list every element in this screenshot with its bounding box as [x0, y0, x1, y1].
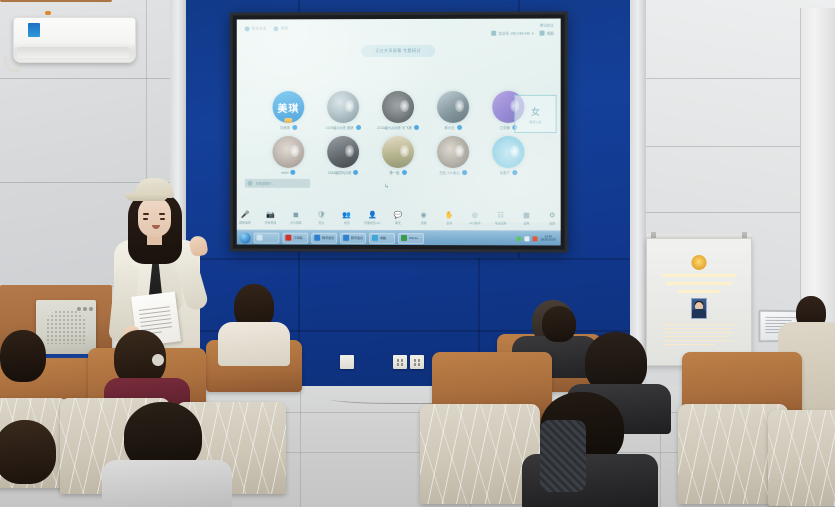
mic-on-icon [414, 125, 419, 130]
taskbar-app-label: Windo... [409, 236, 420, 240]
participant-tile[interactable]: 白石 1 6 余心 [433, 136, 473, 175]
speaker-controls[interactable] [77, 307, 93, 311]
toolbar-label: 安全 [313, 221, 330, 225]
settings-icon: ⚙ [544, 211, 561, 220]
shield-icon [372, 235, 378, 241]
person-head [0, 420, 56, 484]
toolbar-label: 聊天 [390, 221, 407, 225]
participant-name: 林小云 [444, 125, 454, 130]
projected-image: 会议安全 网络 腾讯会议 会议号: 253-246-046 [237, 19, 561, 246]
share-screen-icon: ◼ [288, 211, 305, 220]
layout-switcher[interactable]: 视图 [540, 31, 554, 36]
panel-seam [178, 258, 638, 260]
national-emblem-icon [692, 255, 707, 270]
avatar [327, 91, 359, 123]
folder-icon [401, 235, 407, 241]
toolbar-members[interactable]: 👥 成员 [339, 211, 356, 225]
toolbar-label: 共享屏幕 [288, 221, 305, 225]
network-icon[interactable] [517, 236, 522, 241]
projection-screen[interactable]: 会议安全 网络 腾讯会议 会议号: 253-246-046 [230, 11, 568, 252]
members-icon: 👥 [339, 211, 356, 220]
toolbar-camera[interactable]: 📷 开启视频 [262, 211, 278, 225]
network-label: 网络 [281, 26, 289, 31]
avatar [492, 136, 524, 168]
record-icon: ◉ [415, 211, 432, 220]
meeting-security-chip[interactable]: 会议安全 [245, 26, 267, 31]
participant-tile[interactable]: 美琪 刘美琪 [268, 91, 308, 130]
reaction-icon: ✋ [441, 211, 458, 220]
recording-chip[interactable]: 本地录制中 ... [245, 179, 311, 188]
taskbar-app-label: 腾讯会议 [351, 236, 363, 240]
person-head [542, 306, 576, 342]
windows-taskbar: 几何画... 腾讯会议 腾讯会议 电脑 [237, 230, 561, 246]
wall-socket [410, 355, 424, 369]
participant-tile[interactable]: 2143级九2(4)班 马飞扬 [378, 91, 418, 130]
camera-icon: 📷 [262, 211, 278, 220]
participant-name: 2143级九2(4)班 马飞扬 [377, 125, 412, 130]
audience-member [0, 330, 60, 400]
meeting-topbar: 会议安全 网络 腾讯会议 会议号: 253-246-046 [237, 19, 561, 42]
avatar [382, 91, 414, 123]
avatar: 美琪 [272, 91, 304, 123]
person-shoulders [218, 322, 290, 366]
participant-name: 白石 1 6 余心 [439, 170, 459, 175]
participant-name: mimi [281, 170, 288, 174]
toolbar-more[interactable]: ▦ 应用 [518, 211, 535, 225]
toolbar-reaction[interactable]: ✋ 表情 [441, 211, 458, 225]
mic-on-icon [356, 125, 361, 130]
record-icon [248, 181, 253, 186]
smart-icon: ◎ [467, 211, 484, 220]
mouse-cursor-icon: ↳ [384, 183, 389, 190]
participant-name: 刘美琪 [280, 125, 290, 130]
ac-badge [28, 23, 40, 37]
toolbar-label: 管理成员(11) [364, 221, 381, 225]
network-chip[interactable]: 网络 [274, 26, 288, 31]
presenter-face [138, 197, 171, 237]
taskbar-app[interactable]: 腾讯会议 [340, 232, 366, 243]
audience-member [108, 402, 228, 507]
mic-on-icon [292, 125, 297, 130]
mic-on-icon [353, 170, 358, 175]
toolbar-share[interactable]: ◼ 共享屏幕 [288, 211, 305, 225]
layout-label: 视图 [547, 31, 554, 36]
taskbar-app[interactable]: Windo... [398, 233, 424, 244]
taskbar-app[interactable]: 腾讯会议 [311, 232, 337, 243]
chat-icon: 💬 [390, 211, 407, 220]
toolbar-label: 设置 [544, 221, 561, 225]
toolbar-record[interactable]: ◉ 录制 [415, 211, 432, 225]
ac-vent [17, 47, 129, 58]
meeting-id-label: 会议号: 253-246-046 [498, 31, 529, 36]
ceiling-sensor [45, 11, 51, 15]
layout-grid-icon [540, 31, 545, 36]
mic-on-icon [290, 170, 295, 175]
meeting-topic-pill: 正在共享屏幕 专题研讨 [361, 45, 434, 57]
meeting-topbar-right: 腾讯会议 会议号: 253-246-046 ▾ 视图 [491, 23, 553, 36]
meeting-toolbar: 🎤 解除静音 📷 开启视频 ◼ 共享屏幕 🛡 安全 [237, 206, 561, 231]
id-icon [491, 31, 496, 36]
avatar [437, 91, 469, 123]
participant-name: 江亚楠 [500, 125, 510, 130]
meeting-icon [314, 235, 320, 241]
participant-name: 2164级四5(2)班 [328, 170, 352, 175]
participant-tile[interactable]: 2164级四5(2)班 [323, 136, 363, 175]
participant-tile[interactable]: 第一组 [378, 136, 418, 175]
shield-icon: 🛡 [313, 211, 330, 220]
clock-date: 2025/11/25 [541, 238, 556, 241]
wall-seam [0, 78, 186, 79]
person-shoulders [102, 460, 232, 507]
poster-title-line-3 [678, 290, 720, 293]
presenter-hand [188, 235, 208, 258]
toolbar-label: AI小助手 [467, 221, 484, 225]
tile-seam [300, 386, 301, 507]
microphone-icon: 🎤 [237, 211, 253, 220]
air-conditioner [13, 17, 136, 63]
participant-tile[interactable]: 毛栗子 [488, 136, 528, 175]
avatar [382, 136, 414, 168]
toolbar-label: 成员 [339, 221, 356, 225]
system-tray: 14:39 2025/11/25 [517, 235, 558, 242]
avatar [272, 136, 304, 168]
conference-room-photo: 会议安全 网络 腾讯会议 会议号: 253-246-046 [0, 0, 835, 507]
participant-tile[interactable]: 2139级2(4)班 谢妍 [323, 91, 363, 130]
backpack [540, 420, 586, 492]
chair-seatback[interactable] [768, 410, 835, 506]
participant-name: 第一组 [389, 170, 399, 175]
cloud-icon [257, 235, 263, 241]
participant-tile[interactable]: 林小云 [433, 91, 473, 130]
mic-on-icon [457, 125, 462, 130]
toolbar-manage[interactable]: 👤 管理成员(11) [364, 211, 381, 225]
participant-grid: 美琪 刘美琪 2139级2(4)班 谢妍 2143级九2(4)班 马飞扬 [237, 91, 561, 175]
taskbar-app-label: 腾讯会议 [322, 236, 334, 240]
person-head [0, 330, 46, 382]
toolbar-ai[interactable]: ◎ AI小助手 [467, 211, 484, 225]
lectern-top [0, 0, 112, 2]
volume-icon[interactable] [525, 236, 530, 241]
mic-on-icon [462, 170, 467, 175]
election-poster [653, 250, 745, 358]
meeting-id[interactable]: 会议号: 253-246-046 ▾ [491, 31, 533, 36]
manage-icon: 👤 [364, 211, 381, 220]
toolbar-label: 专业应用 [492, 221, 509, 225]
toolbar-security[interactable]: 🛡 安全 [313, 211, 330, 225]
toolbar-apps[interactable]: ☷ 专业应用 [492, 211, 509, 225]
taskbar-app-label: 几何画... [293, 236, 304, 240]
mic-on-icon [402, 170, 407, 175]
wall-socket [340, 355, 354, 369]
toolbar-mic[interactable]: 🎤 解除静音 [237, 211, 253, 225]
more-icon: ▦ [518, 211, 535, 220]
toolbar-settings[interactable]: ⚙ 设置 [544, 211, 561, 225]
host-badge [284, 118, 292, 123]
shield-icon [245, 26, 250, 31]
participant-tile[interactable]: mimi [268, 136, 308, 175]
waiting-label: 等待入会 [529, 119, 541, 123]
waiting-avatar-letter: 女 [531, 104, 540, 117]
taskbar-app[interactable] [254, 232, 280, 243]
avatar [327, 136, 359, 168]
toolbar-label: 表情 [441, 221, 458, 225]
poster-title-line-1 [662, 274, 736, 277]
recording-label: 本地录制中 ... [256, 181, 275, 186]
audience-member [0, 420, 76, 507]
start-orb-icon[interactable] [240, 232, 251, 243]
taskbar-clock[interactable]: 14:39 2025/11/25 [541, 235, 556, 242]
participant-name: 2139级2(4)班 谢妍 [326, 125, 354, 130]
toolbar-label: 开启视频 [262, 221, 278, 225]
taskbar-app-label: 电脑 [380, 236, 386, 240]
poster-title-line-2 [666, 282, 732, 285]
apps-icon: ☷ [492, 211, 509, 220]
avatar [437, 136, 469, 168]
security-label: 会议安全 [252, 26, 267, 31]
meeting-app: 会议安全 网络 腾讯会议 会议号: 253-246-046 [237, 19, 561, 246]
toolbar-chat[interactable]: 💬 聊天 [390, 211, 407, 225]
participant-name: 毛栗子 [500, 170, 510, 175]
wall-socket [393, 355, 407, 369]
app-name: 腾讯会议 [491, 23, 553, 28]
meeting-icon [343, 235, 349, 241]
chevron-down-icon: ▾ [532, 31, 534, 35]
toolbar-label: 解除静音 [237, 221, 253, 225]
security-icon[interactable] [533, 236, 538, 241]
presenter-cap-brim [125, 193, 169, 201]
toolbar-label: 应用 [518, 221, 535, 225]
toolbar-label: 录制 [415, 221, 432, 225]
signal-icon [274, 26, 279, 31]
audience-member [222, 284, 286, 364]
taskbar-app[interactable]: 几何画... [282, 232, 308, 243]
wps-icon [285, 235, 291, 241]
poster-body-text [663, 324, 735, 348]
hair-tie [152, 354, 164, 366]
candidate-portrait [691, 298, 707, 319]
waiting-room-card[interactable]: 女 等待入会 [514, 95, 556, 133]
taskbar-app[interactable]: 电脑 [369, 232, 395, 243]
mic-on-icon [512, 170, 517, 175]
